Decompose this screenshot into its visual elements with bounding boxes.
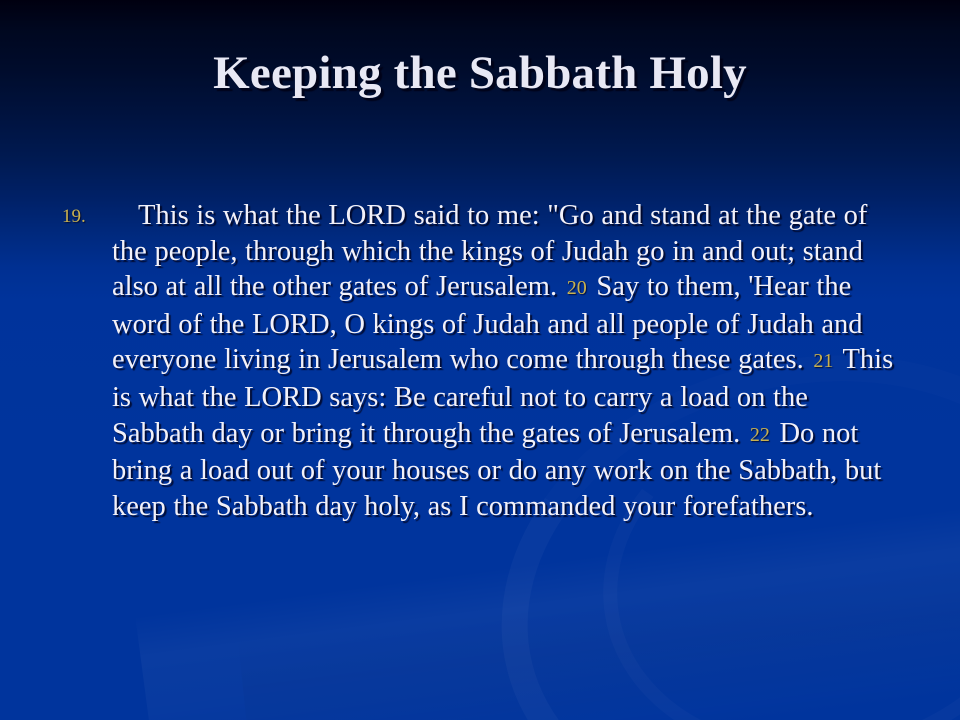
verse-number: 21 (811, 350, 835, 372)
slide-body: 19. This is what the LORD said to me: "G… (58, 198, 903, 524)
bullet-number: 19. (62, 206, 86, 228)
presentation-slide: Keeping the Sabbath Holy 19. This is wha… (0, 0, 960, 720)
decorative-band-shadow (238, 560, 960, 720)
decorative-band-highlight (135, 501, 960, 720)
slide-title: Keeping the Sabbath Holy (0, 48, 960, 100)
scripture-paragraph: This is what the LORD said to me: "Go an… (112, 198, 903, 524)
verse-number: 20 (565, 277, 589, 299)
verse-number: 22 (748, 424, 772, 446)
bullet-list-item: 19. This is what the LORD said to me: "G… (58, 198, 903, 524)
